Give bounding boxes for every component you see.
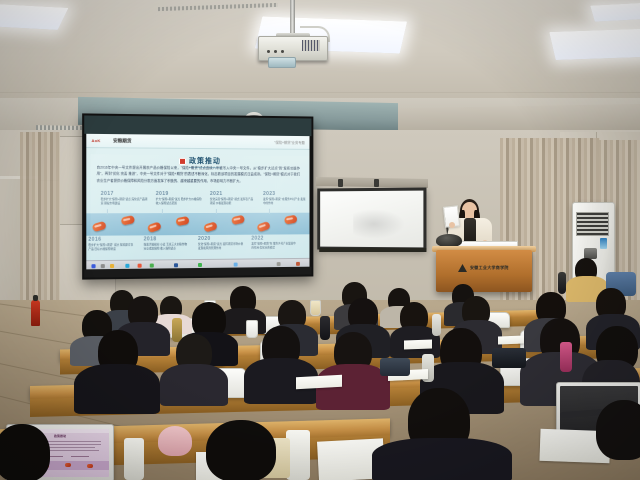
student-torso <box>372 438 512 480</box>
slide-logo-text: 安粮期货 <box>113 138 131 144</box>
word-icon[interactable] <box>174 263 178 267</box>
folder-icon[interactable] <box>110 263 114 267</box>
screen-glare <box>90 154 309 260</box>
settings-icon[interactable] <box>277 262 281 266</box>
whiteboard-clip-icon <box>338 179 343 187</box>
screen-bottom-bar <box>84 267 311 278</box>
student-torso <box>160 364 228 406</box>
whiteboard-tray <box>319 248 426 252</box>
led-panel-light <box>549 28 640 60</box>
mail-icon[interactable] <box>138 263 142 267</box>
whiteboard-clip-icon <box>374 179 379 187</box>
lecture-hall-photo: AoK 安粮期货 "保险+期货"业务专题 政策推动 自2016年中央一号文件提出… <box>0 0 640 480</box>
backpack <box>492 348 526 368</box>
projector-mount-pole <box>290 0 295 36</box>
edge-icon[interactable] <box>125 263 129 267</box>
plush-pouch <box>158 426 192 456</box>
thermos-bottle <box>560 342 572 372</box>
podium[interactable] <box>436 250 532 292</box>
slide-header-subtitle: "保险+期货"业务专题 <box>274 140 304 145</box>
water-bottle <box>558 272 566 294</box>
fire-extinguisher[interactable] <box>31 300 40 326</box>
student-torso <box>74 364 160 414</box>
student-head <box>0 424 50 480</box>
presentation-slide: AoK 安粮期货 "保险+期货"业务专题 政策推动 自2016年中央一号文件提出… <box>86 134 309 260</box>
whiteboard-rail <box>316 177 428 188</box>
search-icon[interactable] <box>101 264 105 268</box>
curtain <box>20 132 60 310</box>
paper-cup <box>310 300 321 316</box>
led-panel-light <box>590 2 640 21</box>
lecturer-hand <box>449 222 455 228</box>
air-conditioner-badge <box>600 238 607 249</box>
student-head <box>206 420 276 480</box>
store-icon[interactable] <box>150 263 154 267</box>
notebook <box>404 340 432 350</box>
whiteboard[interactable] <box>317 187 426 250</box>
notebook <box>498 336 524 345</box>
slide-logo-mark: AoK <box>91 138 100 143</box>
projector-lens-icon <box>268 57 296 68</box>
thermos-bottle <box>124 438 144 480</box>
ceiling-seam <box>0 92 640 93</box>
student-torso <box>220 308 266 334</box>
led-panel-light <box>0 4 68 30</box>
app-icon[interactable] <box>296 261 300 265</box>
start-icon[interactable] <box>91 264 95 268</box>
screen-top-bar <box>84 115 311 136</box>
qq-icon[interactable] <box>234 262 238 266</box>
whiteboard-smudge <box>353 209 405 239</box>
backpack <box>380 358 410 376</box>
water-bottle <box>320 316 330 340</box>
projection-screen[interactable]: AoK 安粮期货 "保险+期货"业务专题 政策推动 自2016年中央一号文件提出… <box>82 113 313 279</box>
wechat-icon[interactable] <box>198 262 202 266</box>
podium-label: 安徽工业大学商学院 <box>470 265 509 271</box>
paper-cup <box>246 320 258 338</box>
water-bottle <box>432 314 441 336</box>
fire-extinguisher-nozzle-icon <box>33 295 38 301</box>
student-head <box>596 400 640 460</box>
projector-vent <box>302 40 320 51</box>
open-notebook <box>296 375 342 389</box>
air-conditioner-vent-icon <box>576 212 609 236</box>
